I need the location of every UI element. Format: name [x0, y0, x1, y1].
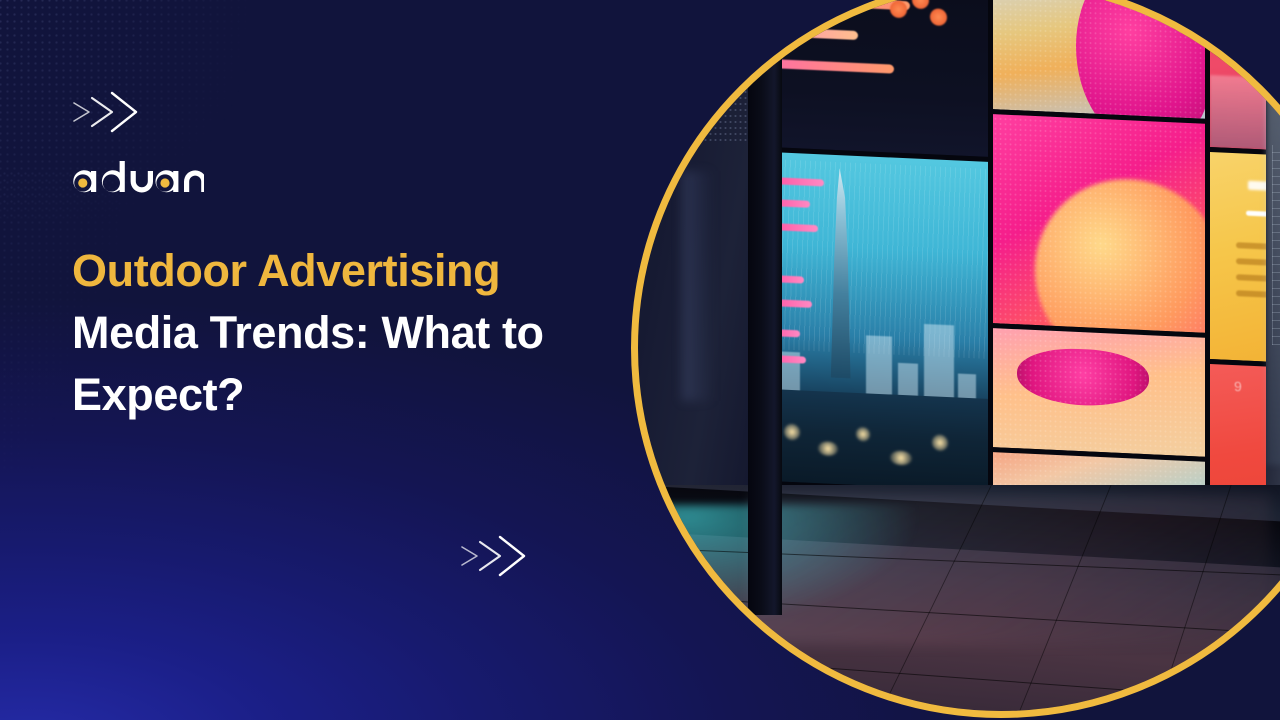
led-video-wall-scene: 9 20 0 [638, 0, 1280, 711]
triple-chevron-right-icon-secondary [458, 534, 528, 578]
promo-banner: 9 20 0 [0, 0, 1280, 720]
wall-frame-post [748, 0, 782, 615]
reflective-floor [638, 485, 1280, 711]
advan-logo[interactable] [72, 160, 612, 202]
right-glass-facade [1266, 0, 1280, 505]
hero-image-circle: 9 20 0 [631, 0, 1280, 718]
hero-photo: 9 20 0 [638, 0, 1280, 711]
page-title: Outdoor Advertising Media Trends: What t… [72, 240, 612, 426]
headline-line-1: Outdoor Advertising [72, 240, 612, 302]
triple-chevron-right-icon [70, 90, 140, 134]
headline-line-2: Media Trends: What [72, 307, 490, 358]
content-column: Outdoor Advertising Media Trends: What t… [72, 160, 612, 426]
